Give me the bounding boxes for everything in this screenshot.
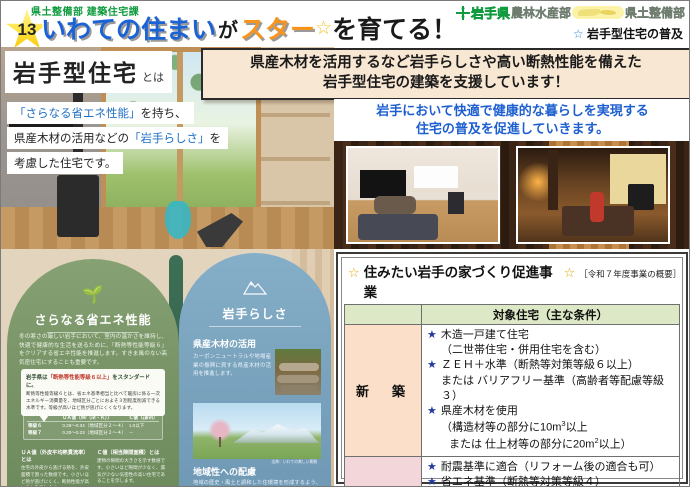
- subtitle-star-icon: ☆: [573, 27, 584, 41]
- subtitle-text: 岩手型住宅の普及: [587, 27, 683, 41]
- banner-line-2: 岩手型住宅の建築を支援しています！: [323, 74, 569, 94]
- mini-row-c: －: [128, 430, 159, 437]
- promotion-line-2: 住宅の普及を促進していきます。: [416, 120, 609, 138]
- program-title: 住みたい岩手の家づくり促進事業: [364, 261, 560, 301]
- left-heading-suffix: とは: [142, 72, 164, 84]
- fish-ornament-icon: [572, 6, 624, 19]
- star-bullet-icon: ★: [427, 404, 437, 419]
- ua-note-title: ＵＡ値（外皮平均熱貫流率）とは: [21, 449, 89, 463]
- iwate-sub2-title: 地域性への配慮: [193, 465, 256, 478]
- ua-note-body: 住宅の外皮から逃げる熱を、外皮面積で割った数値です。小さいほど熱が逃げにくく、断…: [21, 465, 89, 487]
- mountain-icon: [179, 279, 331, 300]
- iwate-sub2-body: 地域の歴史・風土と調和した住環境を形成するよう、地域性への配慮を推進します。: [193, 479, 321, 487]
- program-panel: ☆ 住みたい岩手の家づくり促進事業 ☆ ［令和７年度事業の概要］ 対象住宅（主な…: [336, 252, 688, 484]
- prefecture-logo: 岩手県 農林水産部 県土整備部: [456, 3, 685, 22]
- left-description-line-1: 「さらなる省エネ性能」を持ち、: [7, 102, 194, 124]
- row-label-reform: リフォーム: [345, 456, 422, 487]
- callout-head-b: 「断熱等性能等級６以上」: [48, 375, 113, 381]
- left-desc-2b: 「岩手らしさ」: [129, 133, 210, 145]
- row-conditions-new-build: ★木造一戸建て住宅 （二世帯住宅・併用住宅を含む） ★ＺＥＨ＋水準（断熱等対策等…: [422, 325, 680, 457]
- condition-text: ＺＥＨ＋水準（断熱等対策等級６以上）: [441, 358, 639, 373]
- prefecture-name: 岩手県: [471, 3, 510, 22]
- mini-row-label: 等級７: [27, 430, 61, 437]
- panel-iwate-character: 岩手らしさ 県産木材の活用 カーボンニュートラルや地場産業の振興に資する県産木材…: [179, 253, 331, 487]
- star-bullet-icon: ★: [427, 475, 437, 487]
- program-fiscal-note: ［令和７年度事業の概要］: [579, 268, 678, 280]
- mini-th-blank: [27, 414, 61, 422]
- mini-row-label: 等級６: [27, 422, 61, 430]
- promotion-message: 岩手において快適で健康的な暮らしを実現する 住宅の普及を促進していきます。: [334, 99, 690, 141]
- banner-line-1: 県産木材を活用するなど岩手らしさや高い断熱性能を備えた: [250, 54, 642, 74]
- condition-subtext: （二世帯住宅・併用住宅を含む）: [427, 343, 677, 358]
- left-description-line-3: 考慮した住宅です。: [7, 152, 123, 174]
- left-heading: 岩手型住宅: [13, 60, 138, 86]
- family-living-room-photo: [346, 146, 500, 244]
- row-conditions-reform: ★耐震基準に適合（リフォーム後の適合も可） ★省エネ基準（断熱等対策等級４） ま…: [422, 456, 680, 487]
- star-bullet-icon: ★: [427, 328, 437, 343]
- left-desc-1a: 「さらなる省エネ性能」: [14, 108, 141, 120]
- mini-th-ua: ＵＡ値（Ｗ/（㎡・Ｋ））: [61, 414, 128, 422]
- eligibility-table: 対象住宅（主な条件） 新 築 ★木造一戸建て住宅 （二世帯住宅・併用住宅を含む）…: [344, 304, 680, 487]
- energy-callout: 岩手県は「断熱等性能等級６以上」をスタンダードに。 断熱等性能等級６とは、省エネ…: [21, 369, 165, 416]
- left-desc-1b: を持ち、: [141, 108, 187, 120]
- title-blue-text: いわての住まい: [41, 10, 216, 46]
- page-title: いわての住まい が スター ☆ を育てる！: [41, 13, 457, 43]
- support-banner: 県産木材を活用するなど岩手らしさや高い断熱性能を備えた 岩手型住宅の建築を支援し…: [201, 48, 690, 100]
- table-row-reform: リフォーム ★耐震基準に適合（リフォーム後の適合も可） ★省エネ基準（断熱等対策…: [345, 456, 680, 487]
- condition-text: 耐震基準に適合（リフォーム後の適合も可）: [441, 460, 661, 475]
- department-kendo: 県土整備部: [625, 4, 685, 21]
- title-particle: が: [218, 14, 238, 43]
- mini-row-c: 1.0以下: [128, 422, 159, 430]
- condition-subtext: （構造材等の部分に10m3以上: [427, 419, 677, 436]
- header-target-housing: 対象住宅（主な条件）: [422, 305, 680, 325]
- title-tail-text: を育てる！: [332, 10, 457, 46]
- header-blank-cell: [345, 305, 422, 325]
- row-label-new-build: 新 築: [345, 325, 422, 457]
- condition-subtext: または 仕上材等の部分に20m2以上）: [427, 436, 677, 453]
- panel-iwate-title: 岩手らしさ: [179, 305, 331, 327]
- value-explanations: ＵＡ値（外皮平均熱貫流率）とは 住宅の外皮から逃げる熱を、外皮面積で割った数値で…: [21, 449, 165, 487]
- left-description-line-2: 県産木材の活用などの「岩手らしさ」を: [7, 127, 228, 149]
- program-star-left-icon: ☆: [348, 265, 360, 281]
- iwate-sub1-body: カーボンニュートラルや地場産業の振興に資する県産木材の活用を推進します。: [193, 353, 271, 379]
- condition-subtext: または バリアフリー基準（高齢者等配慮等級３）: [427, 374, 677, 404]
- left-desc-2c: を: [210, 133, 222, 145]
- panel-energy-saving: 🌱 さらなる省エネ性能 冬の寒さの厳しい岩手において、室内の温かさを維持し、快適…: [7, 259, 179, 487]
- wood-stove-graphic: [57, 175, 99, 237]
- header-subtitle: ☆ 岩手型住宅の普及: [573, 25, 683, 42]
- mini-row-ua: 0.20～0.23（地域区分２～４）: [61, 430, 128, 437]
- table-row-new-build: 新 築 ★木造一戸建て住宅 （二世帯住宅・併用住宅を含む） ★ＺＥＨ＋水準（断熱…: [345, 325, 680, 457]
- mini-th-c: Ｃ値（㎠/㎡）: [128, 414, 159, 422]
- condition-text: 木造一戸建て住宅: [441, 328, 529, 343]
- mount-iwate-photo: [193, 403, 321, 459]
- iwate-sub1-title: 県産木材の活用: [193, 337, 256, 350]
- star-bullet-icon: ★: [427, 460, 437, 475]
- mini-row-ua: 0.28～0.34（地域区分２～４）: [61, 422, 128, 430]
- condition-text: 県産木材を使用: [441, 404, 518, 419]
- program-star-right-icon: ☆: [564, 265, 576, 281]
- promotion-line-1: 岩手において快適で健康的な暮らしを実現する: [376, 102, 649, 120]
- stacked-logs-photo: [275, 349, 321, 395]
- star-bullet-icon: ★: [427, 358, 437, 373]
- vase-graphic: [165, 201, 191, 239]
- left-desc-2a: 県産木材の活用などの: [14, 133, 129, 145]
- iwate-emblem-icon: [456, 6, 470, 20]
- callout-head-a: 岩手県は: [26, 375, 48, 381]
- fireplace-living-room-photo: [516, 146, 670, 244]
- department-nourin: 農林水産部: [511, 4, 571, 21]
- program-title-row: ☆ 住みたい岩手の家づくり促進事業 ☆ ［令和７年度事業の概要］: [344, 260, 680, 304]
- c-note-title: Ｃ値（相当隙間面積）とは: [97, 449, 165, 456]
- c-note-body: 建物の隙間の大きさを示す数値です。小さいほど隙間が少なく、漏気が少ない気密性の高…: [97, 458, 165, 485]
- panel-energy-title: さらなる省エネ性能: [7, 311, 179, 333]
- sprout-icon: 🌱: [7, 285, 179, 305]
- panel-energy-body: 冬の寒さの厳しい岩手において、室内の温かさを維持し、快適で健康的な生活を送るため…: [19, 333, 167, 368]
- ua-c-value-table: ＵＡ値（Ｗ/（㎡・Ｋ）） Ｃ値（㎠/㎡） 等級６ 0.28～0.34（地域区分２…: [23, 411, 163, 440]
- poster-page: 県土整備部 建築住宅課 13 いわての住まい が スター ☆ を育てる！ 岩手県…: [0, 0, 690, 487]
- title-orange-text: スター: [240, 10, 315, 46]
- title-star-icon: ☆: [315, 17, 332, 40]
- condition-text: 省エネ基準（断熱等対策等級４）: [441, 475, 606, 487]
- interior-photo-strip: [334, 141, 690, 249]
- left-heading-box: 岩手型住宅とは: [5, 51, 172, 93]
- table-header-row: 対象住宅（主な条件）: [345, 305, 680, 325]
- callout-body: 断熱等性能等級６とは、省エネ基準相当と比べて暖房に係る一次エネルギー消費量を、地…: [26, 391, 160, 412]
- feature-panels: 🌱 さらなる省エネ性能 冬の寒さの厳しい岩手において、室内の温かさを維持し、快適…: [1, 249, 334, 487]
